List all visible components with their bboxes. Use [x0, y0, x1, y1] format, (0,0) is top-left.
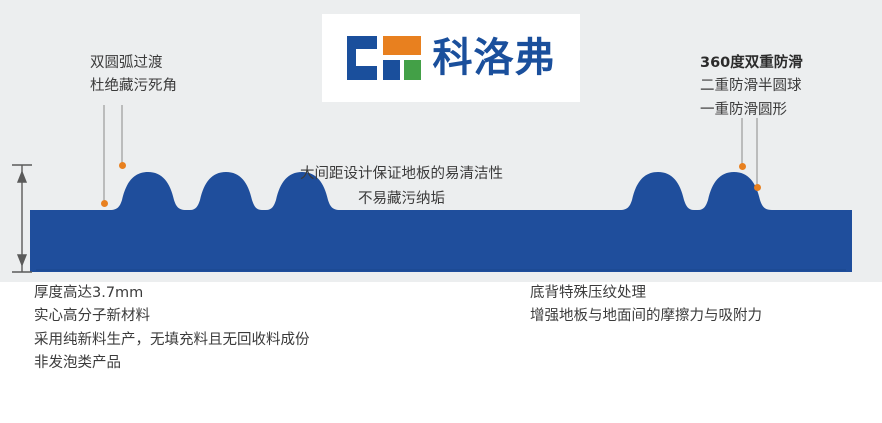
- callout-top-right-line1: 二重防滑半圆球: [700, 75, 803, 98]
- callout-bottom-left-line4: 非发泡类产品: [34, 352, 310, 375]
- callout-top-right-title: 360度双重防滑: [700, 52, 803, 75]
- callout-top-left-line1: 双圆弧过渡: [90, 52, 177, 75]
- brand-logo-card: 科洛弗: [322, 14, 580, 102]
- callout-bottom-right-line1: 底背特殊压纹处理: [530, 282, 762, 305]
- callout-center: 大间距设计保证地板的易清洁性 不易藏污纳垢: [300, 162, 503, 213]
- callout-top-left: 双圆弧过渡 杜绝藏污死角: [90, 52, 177, 99]
- callout-top-right-line2: 一重防滑圆形: [700, 99, 803, 122]
- callout-top-right: 360度双重防滑 二重防滑半圆球 一重防滑圆形: [700, 52, 803, 122]
- kelofu-blocks-logo-icon: [347, 36, 421, 80]
- callout-bottom-left: 厚度高达3.7mm 实心高分子新材料 采用纯新料生产，无填充料且无回收料成份 非…: [34, 282, 310, 376]
- thickness-dimension-arrow: [12, 165, 32, 272]
- callout-center-line2: 不易藏污纳垢: [300, 187, 503, 212]
- leader-dot-arc: [119, 162, 126, 169]
- leader-dot-halfball: [739, 163, 746, 170]
- leader-dot-transition: [101, 200, 108, 207]
- callout-bottom-left-line1: 厚度高达3.7mm: [34, 282, 310, 305]
- diagram-canvas: 科洛弗 双圆弧过渡 杜绝藏污死角 360度双重防滑 二重防滑半圆球 一重防滑圆形…: [0, 0, 882, 423]
- callout-center-line1: 大间距设计保证地板的易清洁性: [300, 162, 503, 187]
- brand-logo-text: 科洛弗: [433, 38, 556, 78]
- leader-dot-circle: [754, 184, 761, 191]
- callout-top-left-line2: 杜绝藏污死角: [90, 75, 177, 98]
- callout-bottom-right-line2: 增强地板与地面间的摩擦力与吸附力: [530, 305, 762, 328]
- callout-bottom-left-line3: 采用纯新料生产，无填充料且无回收料成份: [34, 329, 310, 352]
- callout-bottom-left-line2: 实心高分子新材料: [34, 305, 310, 328]
- callout-bottom-right: 底背特殊压纹处理 增强地板与地面间的摩擦力与吸附力: [530, 282, 762, 329]
